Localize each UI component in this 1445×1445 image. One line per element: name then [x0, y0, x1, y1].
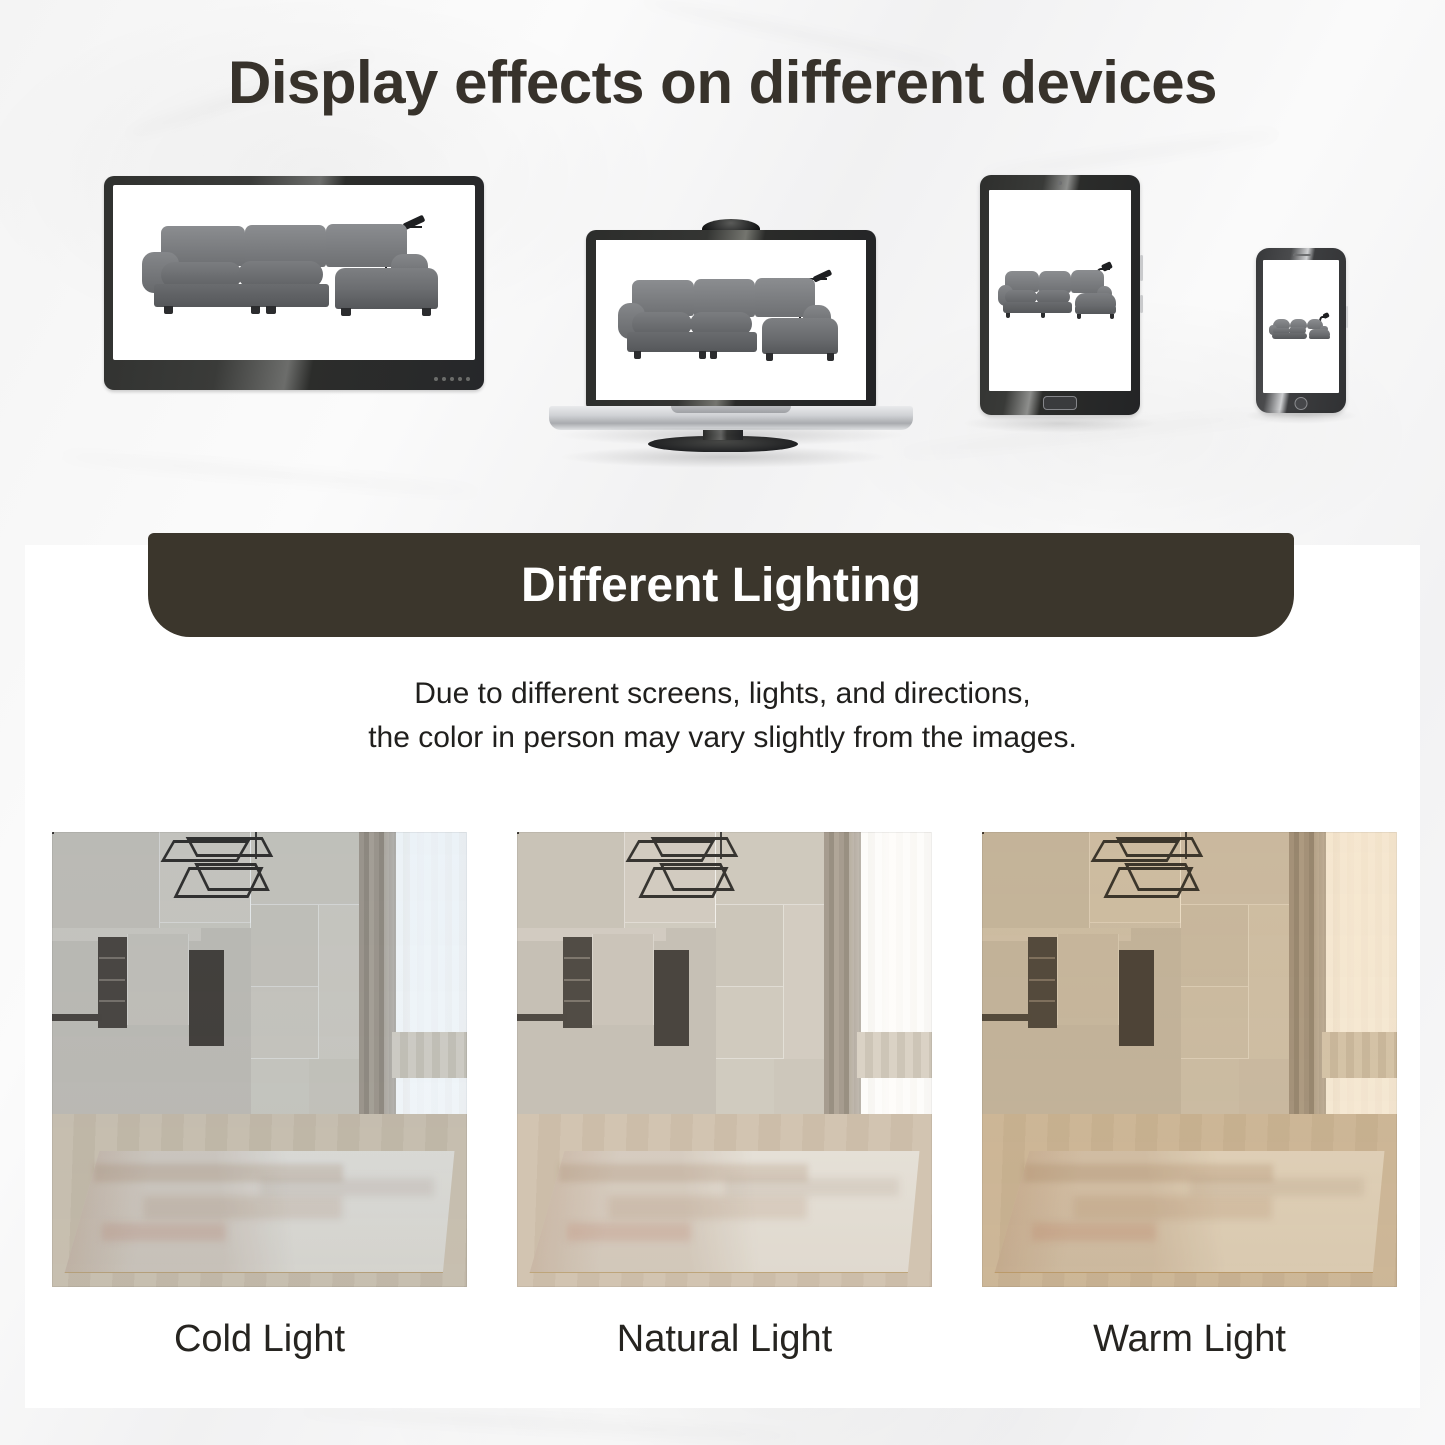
tablet-shadow	[962, 417, 1158, 433]
page-title: Display effects on different devices	[0, 48, 1445, 117]
phone-screen	[1263, 260, 1339, 393]
tablet-camera	[1058, 181, 1062, 185]
device-showcase	[0, 170, 1445, 470]
tablet-side-button	[1140, 255, 1143, 281]
label-natural-light: Natural Light	[517, 1318, 932, 1361]
phone-home-button[interactable]	[1295, 397, 1308, 410]
lighting-sample-cold	[52, 832, 467, 1287]
description-line-1: Due to different screens, lights, and di…	[0, 672, 1445, 716]
lighting-sample-natural	[517, 832, 932, 1287]
room-photo-natural	[517, 832, 932, 1287]
lighting-samples	[52, 832, 1397, 1287]
monitor-led-indicators	[434, 377, 470, 381]
monitor-screen	[113, 185, 475, 360]
different-lighting-banner: Different Lighting	[148, 533, 1294, 637]
tablet-icon	[980, 175, 1140, 415]
room-photo-warm	[982, 832, 1397, 1287]
label-cold-light: Cold Light	[52, 1318, 467, 1361]
description-line-2: the color in person may vary slightly fr…	[0, 716, 1445, 760]
laptop-hinge-notch	[671, 406, 791, 413]
monitor-icon	[104, 176, 484, 390]
lighting-sample-warm	[982, 832, 1397, 1287]
tablet-home-button[interactable]	[1043, 396, 1077, 410]
tablet-volume-button	[1140, 295, 1143, 313]
phone-shadow	[1244, 410, 1358, 424]
label-warm-light: Warm Light	[982, 1318, 1397, 1361]
banner-title: Different Lighting	[521, 558, 921, 613]
laptop-shadow	[556, 428, 906, 446]
laptop-screen	[596, 240, 866, 400]
laptop-icon	[586, 230, 876, 408]
description-text: Due to different screens, lights, and di…	[0, 672, 1445, 760]
tablet-screen	[989, 190, 1131, 391]
phone-speaker	[1293, 254, 1311, 256]
lighting-labels: Cold Light Natural Light Warm Light	[52, 1318, 1397, 1361]
marble-vein	[300, 1407, 800, 1441]
phone-side-button	[1346, 306, 1348, 328]
phone-icon	[1256, 248, 1346, 413]
laptop-lid	[586, 230, 876, 408]
room-photo-cold	[52, 832, 467, 1287]
